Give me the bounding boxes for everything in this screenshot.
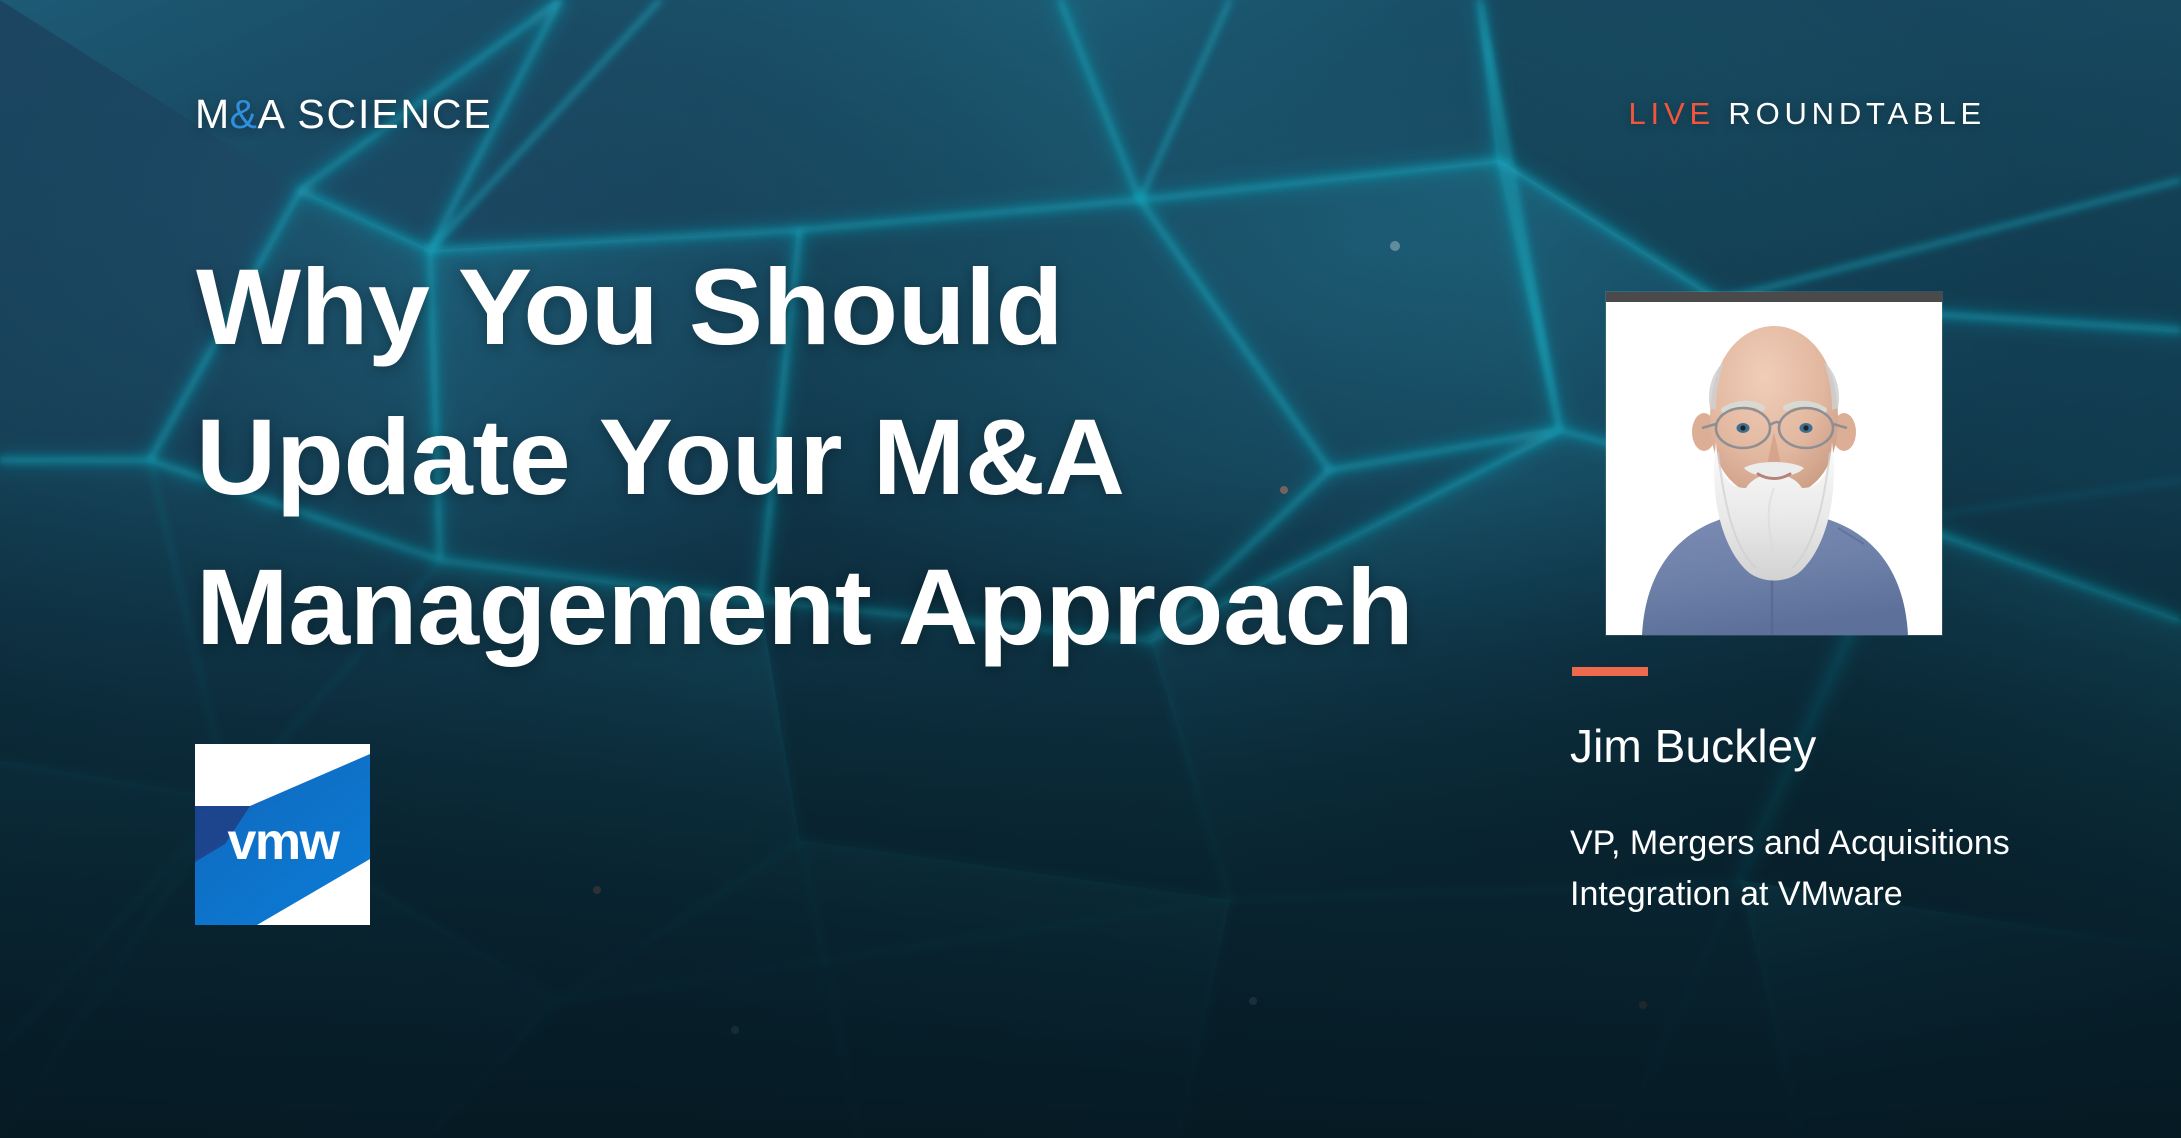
vmware-logo: vmw xyxy=(195,744,370,925)
brand-letter-a: A xyxy=(258,91,286,137)
brand-ampersand: & xyxy=(230,91,258,137)
speaker-name: Jim Buckley xyxy=(1570,719,1816,773)
accent-divider xyxy=(1572,667,1648,676)
title-line-2: Update Your M&A xyxy=(196,382,1597,532)
speaker-role-line-1: VP, Mergers and Acquisitions xyxy=(1570,818,2110,869)
webinar-title-card: M&ASCIENCE LIVE ROUNDTABLE Why You Shoul… xyxy=(0,0,2181,1138)
speaker-role-line-2: Integration at VMware xyxy=(1570,869,2110,920)
brand-letter-m: M xyxy=(195,91,230,137)
ma-science-logo: M&ASCIENCE xyxy=(195,91,493,138)
brand-word-science: SCIENCE xyxy=(285,91,492,137)
title-line-3: Management Approach xyxy=(196,532,1597,682)
event-type-label: LIVE ROUNDTABLE xyxy=(1629,96,1986,132)
vmw-wordmark: vmw xyxy=(227,813,340,871)
roundtable-label: ROUNDTABLE xyxy=(1728,96,1986,131)
title-line-1: Why You Should xyxy=(196,232,1597,382)
speaker-role: VP, Mergers and Acquisitions Integration… xyxy=(1570,818,2110,920)
live-label: LIVE xyxy=(1629,96,1715,131)
speaker-headshot xyxy=(1606,292,1942,635)
photo-top-bar xyxy=(1606,292,1942,302)
vmware-logo-mark: vmw xyxy=(195,744,370,925)
speaker-portrait-illustration xyxy=(1606,292,1942,635)
page-title: Why You Should Update Your M&A Managemen… xyxy=(196,232,1556,682)
svg-text:vmw: vmw xyxy=(227,813,340,871)
header-bar: M&ASCIENCE LIVE ROUNDTABLE xyxy=(0,88,2181,140)
